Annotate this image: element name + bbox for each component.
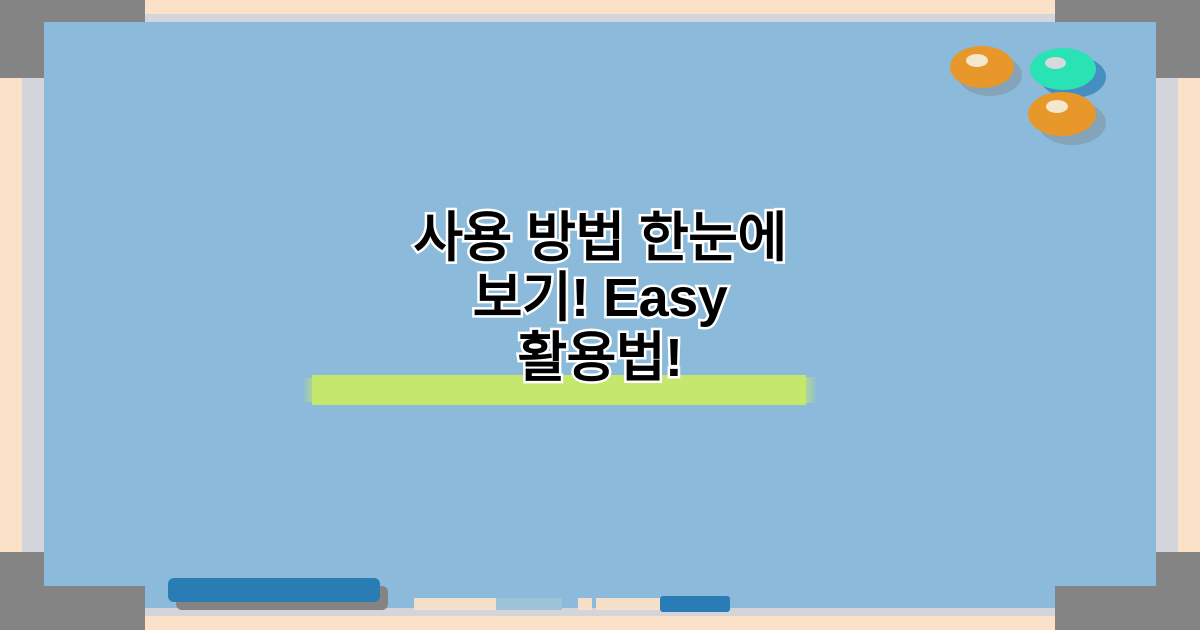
blue-bar-right bbox=[660, 596, 730, 612]
corner-bracket-bottom-right-vertical bbox=[1156, 552, 1200, 630]
orange-ellipse-top-left-highlight bbox=[966, 54, 988, 67]
corner-bracket-top-left-vertical bbox=[0, 0, 44, 78]
bottom-edge-tick-b bbox=[496, 598, 562, 610]
orange-ellipse-lower-highlight bbox=[1046, 100, 1068, 113]
blue-bar-left bbox=[168, 578, 380, 602]
corner-bracket-bottom-left-vertical bbox=[0, 552, 44, 630]
teal-ellipse-highlight bbox=[1045, 57, 1066, 69]
main-blue-panel bbox=[44, 22, 1156, 608]
text-highlight-band bbox=[312, 375, 806, 405]
corner-bracket-top-right-vertical bbox=[1156, 0, 1200, 78]
bottom-edge-tick-a bbox=[414, 598, 496, 610]
thumbnail-canvas: 사용 방법 한눈에 보기! Easy 활용법! bbox=[0, 0, 1200, 630]
teal-ellipse bbox=[1030, 48, 1096, 90]
bottom-edge-tick-c bbox=[578, 598, 592, 610]
orange-ellipse-top-left bbox=[950, 46, 1014, 88]
orange-ellipse-lower bbox=[1028, 92, 1096, 136]
